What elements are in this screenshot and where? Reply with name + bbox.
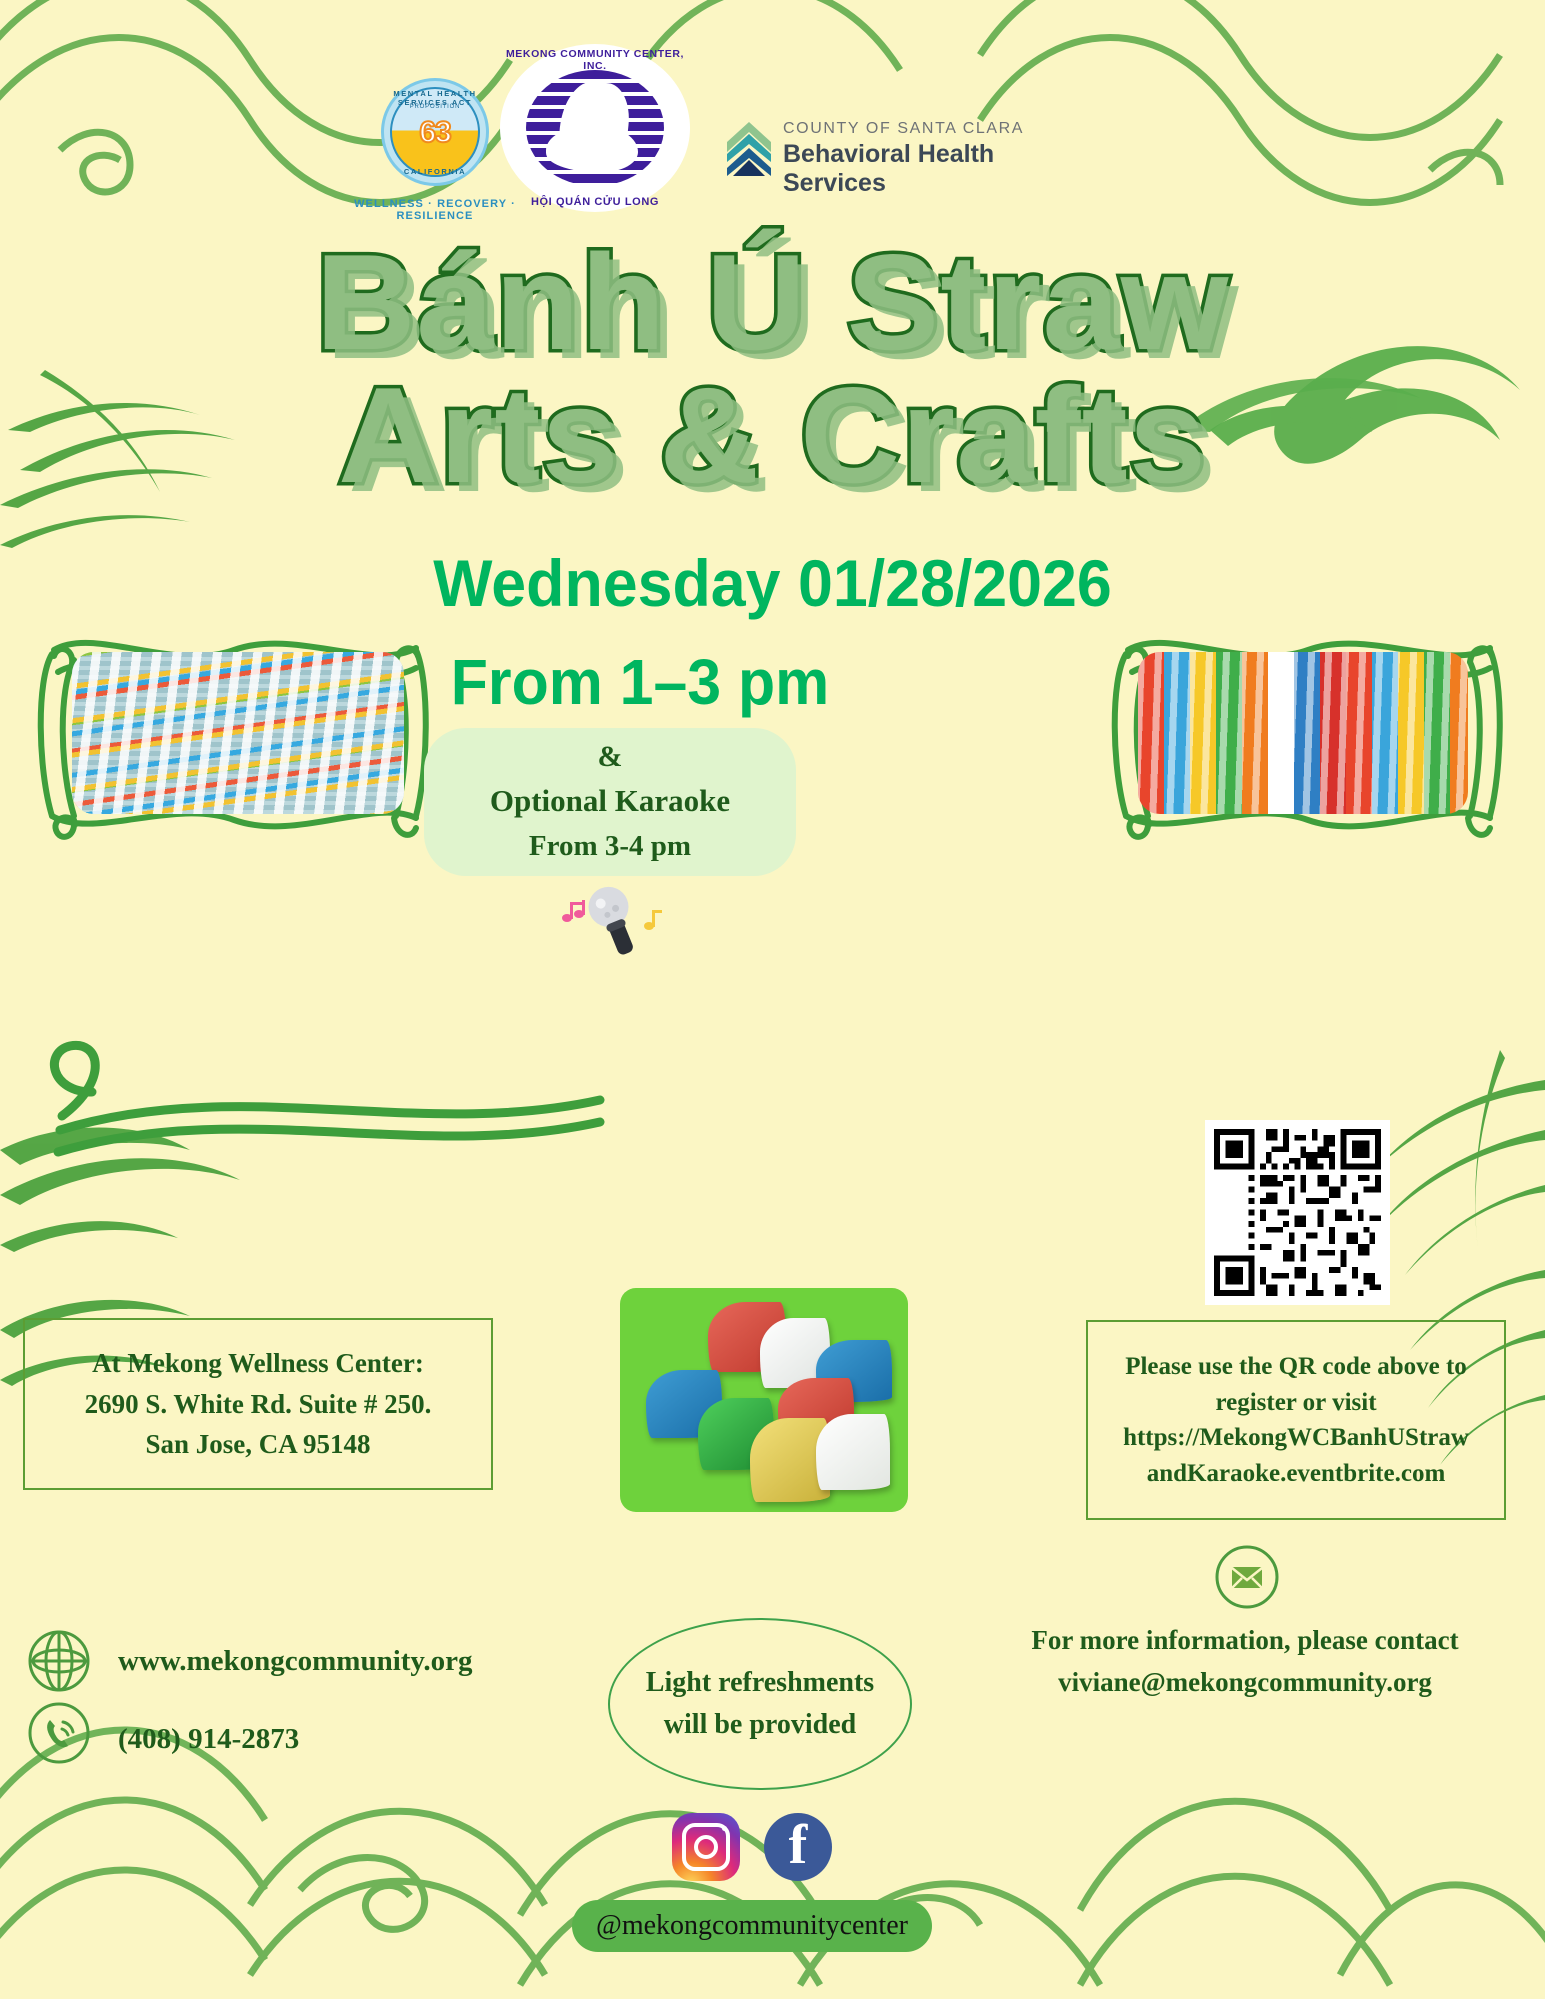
- refreshments-callout: Light refreshments will be provided: [608, 1618, 912, 1790]
- globe-icon: [26, 1628, 92, 1694]
- location-line-1: At Mekong Wellness Center:: [92, 1343, 424, 1384]
- website-url[interactable]: www.mekongcommunity.org: [118, 1645, 472, 1678]
- county-line-2: Behavioral Health Services: [783, 140, 1065, 198]
- mekong-logo-bottom-text: HỘI QUÁN CỬU LONG: [500, 196, 690, 208]
- registration-url-line-2[interactable]: andKaraoke.eventbrite.com: [1147, 1456, 1446, 1492]
- location-line-3: San Jose, CA 95148: [145, 1424, 370, 1465]
- karaoke-line-2: From 3-4 pm: [424, 825, 796, 867]
- contact-email[interactable]: viviane@mekongcommunity.org: [960, 1662, 1530, 1704]
- instagram-icon[interactable]: [672, 1813, 740, 1881]
- poster-title: Bánh Ú Straw Arts & Crafts: [0, 236, 1545, 503]
- flyer-poster: MENTAL HEALTH SERVICES ACT PROPOSITION 6…: [0, 0, 1545, 1999]
- mail-icon: [1215, 1545, 1279, 1609]
- straw-craft-photo-right: [1138, 652, 1468, 814]
- karaoke-ampersand: &: [424, 736, 796, 778]
- location-box: At Mekong Wellness Center: 2690 S. White…: [23, 1318, 493, 1490]
- title-line-2: Arts & Crafts: [0, 369, 1545, 502]
- county-behavioral-health-logo: COUNTY OF SANTA CLARA Behavioral Health …: [725, 118, 1065, 180]
- prop63-tagline: WELLNESS · RECOVERY · RESILIENCE: [345, 198, 525, 222]
- social-handle-pill[interactable]: @mekongcommunitycenter: [572, 1900, 932, 1952]
- event-date: Wednesday 01/28/2026: [39, 545, 1507, 621]
- microphone-icon: [555, 880, 665, 960]
- contact-info: For more information, please contact viv…: [960, 1620, 1530, 1704]
- phone-number[interactable]: (408) 914-2873: [118, 1723, 299, 1756]
- banh-u-dumplings-photo: [620, 1288, 908, 1512]
- refreshments-line-2: will be provided: [664, 1704, 856, 1746]
- registration-url-line-1[interactable]: https://MekongWCBanhUStraw: [1123, 1420, 1469, 1456]
- karaoke-line-1: Optional Karaoke: [424, 778, 796, 825]
- location-line-2: 2690 S. White Rd. Suite # 250.: [85, 1384, 432, 1425]
- prop63-number: 63: [381, 118, 489, 148]
- straw-craft-photo-left: [72, 652, 404, 814]
- county-line-1: COUNTY OF SANTA CLARA: [783, 120, 1024, 138]
- qr-code[interactable]: [1205, 1120, 1390, 1305]
- mekong-community-center-logo: MEKONG COMMUNITY CENTER, INC. HỘI QUÁN C…: [500, 44, 690, 212]
- contact-line-1: For more information, please contact: [960, 1620, 1530, 1662]
- county-chevron-icon: [725, 120, 773, 176]
- refreshments-line-1: Light refreshments: [646, 1662, 874, 1704]
- title-line-1: Bánh Ú Straw: [0, 236, 1545, 369]
- prop63-proposition-label: PROPOSITION: [381, 104, 489, 110]
- registration-box[interactable]: Please use the QR code above to register…: [1086, 1320, 1506, 1520]
- social-handle: @mekongcommunitycenter: [596, 1910, 908, 1942]
- prop-63-logo: MENTAL HEALTH SERVICES ACT PROPOSITION 6…: [381, 78, 489, 186]
- mekong-logo-ring-text: MEKONG COMMUNITY CENTER, INC.: [500, 48, 690, 72]
- phone-icon: [26, 1700, 92, 1766]
- registration-line-1: Please use the QR code above to: [1125, 1349, 1467, 1385]
- registration-line-2: register or visit: [1215, 1385, 1376, 1421]
- karaoke-callout: & Optional Karaoke From 3-4 pm: [424, 736, 796, 867]
- facebook-icon[interactable]: f: [764, 1813, 832, 1881]
- prop63-bottom-arc: CALIFORNIA: [381, 167, 489, 176]
